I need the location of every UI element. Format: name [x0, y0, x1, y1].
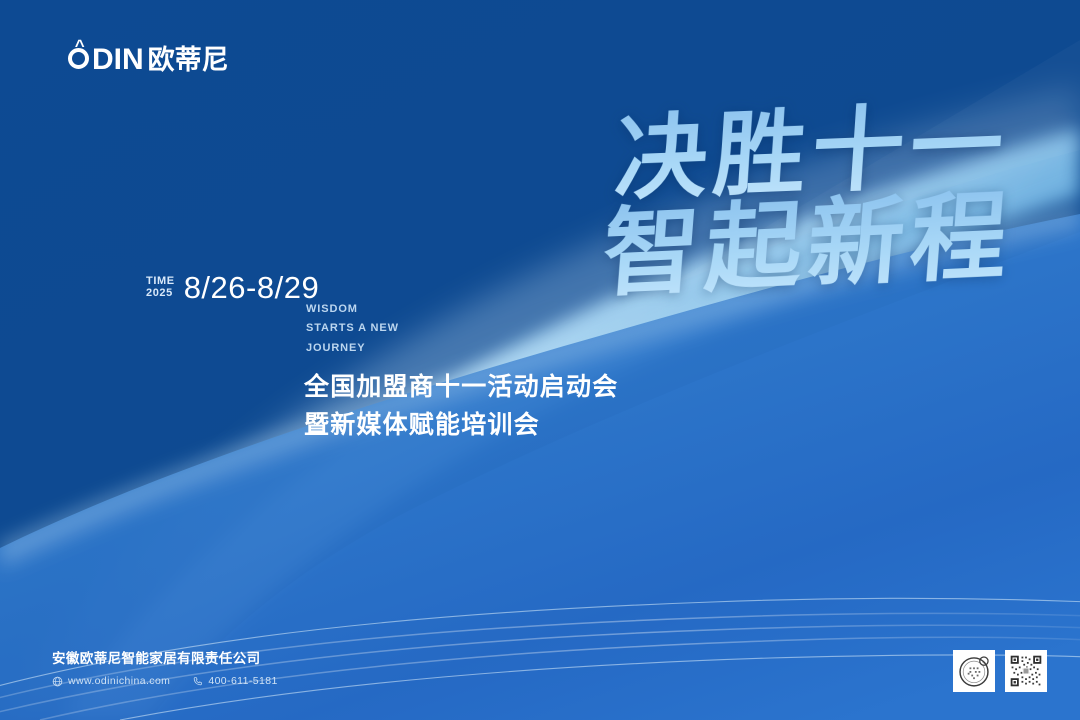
wechat-qr-code[interactable]: [1005, 650, 1047, 692]
tagline-line-3: JOURNEY: [306, 339, 399, 358]
svg-text:+: +: [982, 659, 986, 665]
wechat-qr-code-icon: [1008, 653, 1044, 689]
contact-row: www.odinichina.com 400-611-5181: [52, 675, 278, 687]
phone-contact: 400-611-5181: [192, 675, 277, 687]
subtitle-line-1: 全国加盟商十一活动启动会: [304, 368, 618, 406]
time-label: TIME 2025: [146, 276, 175, 300]
time-label-year: 2025: [146, 288, 175, 300]
english-tagline: WISDOM STARTS A NEW JOURNEY: [306, 300, 399, 358]
phone-icon: [192, 676, 203, 687]
event-subtitle: 全国加盟商十一活动启动会 暨新媒体赋能培训会: [304, 368, 618, 444]
qr-code-row: +: [953, 650, 1047, 692]
logo-o-circle-icon: ^: [68, 44, 92, 69]
tagline-line-2: STARTS A NEW: [306, 319, 399, 338]
subtitle-line-2: 暨新媒体赋能培训会: [304, 406, 618, 444]
website-contact: www.odinichina.com: [52, 675, 170, 687]
event-date-block: TIME 2025 8/26-8/29: [146, 272, 319, 303]
event-date-range: 8/26-8/29: [184, 272, 320, 303]
logo-wordmark: DIN: [92, 45, 144, 75]
seal-qr-code-icon: +: [956, 653, 992, 689]
logo-chinese-name: 欧蒂尼: [148, 47, 229, 74]
time-label-word: TIME: [146, 276, 175, 288]
headline: 决胜十一 智起新程: [604, 104, 1008, 295]
event-poster: ^ DIN 欧蒂尼 决胜十一 智起新程 TIME 2025 8/26-8/29 …: [0, 0, 1080, 720]
seal-qr-code[interactable]: +: [953, 650, 995, 692]
brand-logo: ^ DIN 欧蒂尼: [68, 44, 229, 75]
website-text: www.odinichina.com: [68, 675, 170, 687]
phone-text: 400-611-5181: [208, 675, 277, 687]
headline-line-2: 智起新程: [599, 185, 1017, 304]
footer: 安徽欧蒂尼智能家居有限责任公司 www.odinichina.com 400-6…: [52, 650, 278, 687]
logo-circumflex-icon: ^: [75, 37, 85, 54]
company-name: 安徽欧蒂尼智能家居有限责任公司: [52, 650, 278, 669]
tagline-line-1: WISDOM: [306, 300, 399, 319]
globe-icon: [52, 676, 63, 687]
logo-mark: ^ DIN 欧蒂尼: [68, 44, 229, 75]
